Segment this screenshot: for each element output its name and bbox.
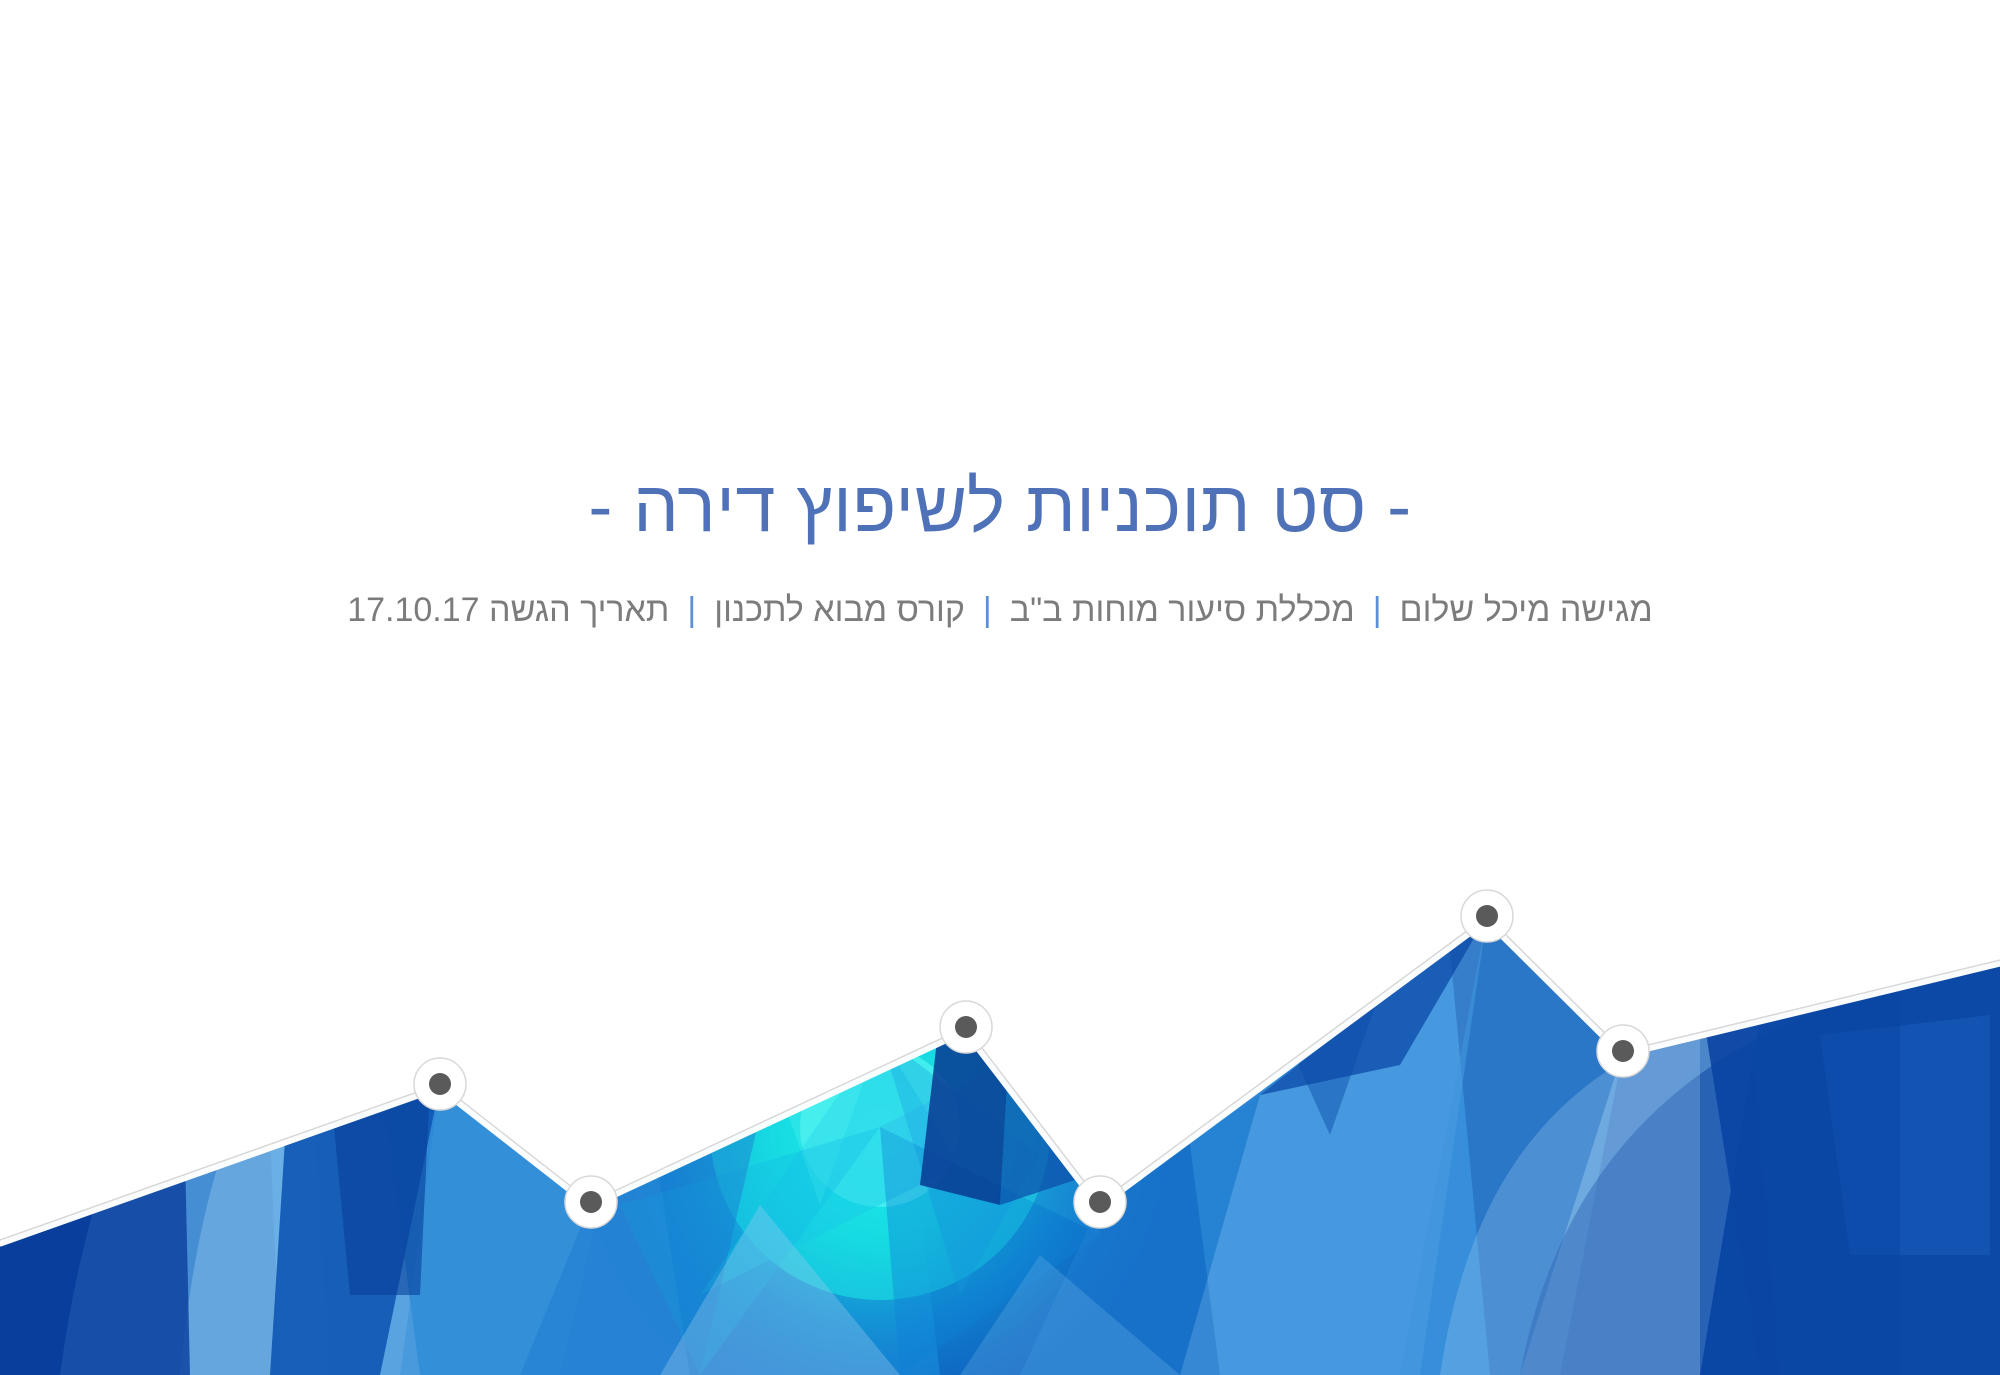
decorative-graphic <box>0 735 2000 1375</box>
subtitle-segment-presenter: מגישה מיכל שלום <box>1384 590 1669 631</box>
subtitle-segment-college: מכללת סיעור מוחות ב"ב <box>994 590 1371 631</box>
data-point-marker <box>1074 1176 1126 1228</box>
data-point-marker <box>565 1176 617 1228</box>
data-point-marker <box>414 1058 466 1110</box>
data-point-marker <box>1597 1025 1649 1077</box>
subtitle-separator: | <box>1371 593 1384 627</box>
polygon-mosaic <box>0 735 2000 1375</box>
subtitle-separator: | <box>981 593 994 627</box>
subtitle-segment-course: קורס מבוא לתכנון <box>698 590 981 631</box>
subtitle-separator: | <box>685 593 698 627</box>
data-point-marker <box>1461 890 1513 942</box>
slide-canvas: - סט תוכניות לשיפוץ דירה - מגישה מיכל של… <box>0 0 2000 1375</box>
data-point-marker <box>940 1001 992 1053</box>
subtitle-segment-due-date: תאריך הגשה 17.10.17 <box>331 590 685 631</box>
low-poly-mountains-svg <box>0 735 2000 1375</box>
subtitle: מגישה מיכל שלום | מכללת סיעור מוחות ב"ב … <box>0 590 2000 631</box>
page-title: - סט תוכניות לשיפוץ דירה - <box>0 470 2000 546</box>
title-block: - סט תוכניות לשיפוץ דירה - מגישה מיכל של… <box>0 470 2000 630</box>
